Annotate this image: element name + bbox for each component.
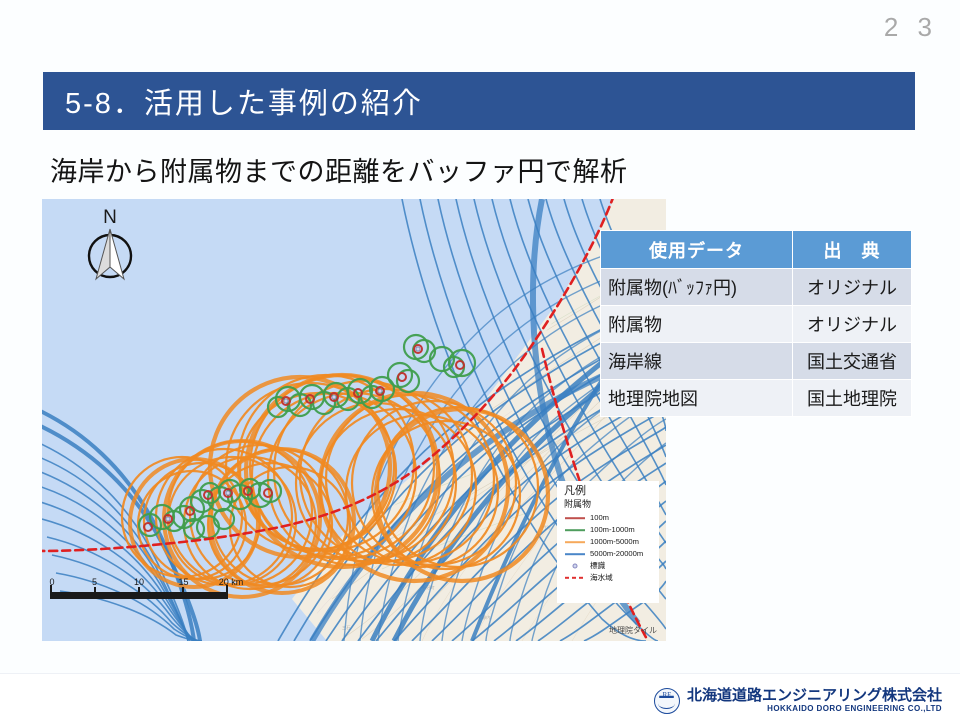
cell-source: 国土地理院 [793,380,912,417]
scale-tick-15: 15 [178,577,188,587]
cell-data: 海岸線 [601,343,793,380]
map-figure: 厚真町 むかわ 日高町 平取町 新冠町 門別 静内 三石 [42,199,666,641]
scale-tick-mark [50,585,52,599]
legend-line-swatch-icon [564,536,586,548]
table-header-row: 使用データ 出 典 [601,231,912,269]
scale-tick-mark [138,587,140,599]
cell-data: 附属物(ﾊﾞｯﾌｧ円) [601,269,793,306]
map-scale-bar: 0 5 10 15 20 km [50,573,228,599]
legend-item-label: 標識 [590,560,605,571]
legend-item-label: 海水域 [590,572,613,583]
cell-data: 附属物 [601,306,793,343]
cell-source: オリジナル [793,269,912,306]
compass-north-label: N [103,207,117,229]
scale-tick-10: 10 [134,577,144,587]
cell-source: オリジナル [793,306,912,343]
map-legend: 凡例 附属物 100m 100m-1000m 1000m-5000m 5000m… [557,481,659,603]
cell-data: 地理院地図 [601,380,793,417]
slide-title-bar: 5-8．活用した事例の紹介 [43,72,915,130]
column-header-data: 使用データ [601,231,793,269]
legend-item: 5000m-20000m [564,548,653,560]
slide-subtitle: 海岸から附属物までの距離をバッファ円で解析 [50,150,628,189]
legend-item: 1000m-5000m [564,536,653,548]
slide-footer: RE 北海道道路エンジニアリング株式会社 HOKKAIDO DORO ENGIN… [0,673,960,720]
table-row: 附属物 オリジナル [601,306,912,343]
legend-item: 海水域 [564,572,653,584]
legend-item: 100m-1000m [564,524,653,536]
compass-rose: N [80,207,140,287]
company-logo: RE 北海道道路エンジニアリング株式会社 HOKKAIDO DORO ENGIN… [654,688,942,714]
scale-tick-mark [94,587,96,599]
legend-item-label: 5000m-20000m [590,549,643,558]
table-row: 附属物(ﾊﾞｯﾌｧ円) オリジナル [601,269,912,306]
legend-dashed-swatch-icon [564,572,586,584]
company-logo-mark-icon: RE [654,688,680,714]
legend-line-swatch-icon [564,548,586,560]
legend-point-swatch-icon [564,560,586,572]
company-name-block: 北海道道路エンジニアリング株式会社 HOKKAIDO DORO ENGINEER… [687,688,942,713]
legend-line-swatch-icon [564,512,586,524]
page-title: 5-8．活用した事例の紹介 [65,80,423,122]
legend-item-label: 100m [590,513,609,522]
page-number: 2 3 [884,12,938,43]
scale-tick-mark [226,585,228,599]
company-name-en: HOKKAIDO DORO ENGINEERING CO.,LTD [687,705,942,713]
legend-item: 標識 [564,560,653,572]
data-sources-table: 使用データ 出 典 附属物(ﾊﾞｯﾌｧ円) オリジナル 附属物 オリジナル 海岸… [600,230,912,417]
map-attribution: 地理院タイル [609,625,657,636]
legend-title: 凡例 [564,485,653,497]
legend-line-swatch-icon [564,524,586,536]
company-name-jp: 北海道道路エンジニアリング株式会社 [687,688,942,704]
logo-monogram: RE [655,691,679,699]
legend-item: 100m [564,512,653,524]
legend-group-label: 附属物 [564,500,653,510]
scale-tick-mark [182,587,184,599]
legend-item-label: 1000m-5000m [590,537,639,546]
scale-tick-20: 20 km [219,577,244,587]
cell-source: 国土交通省 [793,343,912,380]
column-header-source: 出 典 [793,231,912,269]
table-row: 海岸線 国土交通省 [601,343,912,380]
scale-tick-5: 5 [92,577,97,587]
table-row: 地理院地図 国土地理院 [601,380,912,417]
north-arrow-icon [80,227,140,285]
legend-item-label: 100m-1000m [590,525,635,534]
